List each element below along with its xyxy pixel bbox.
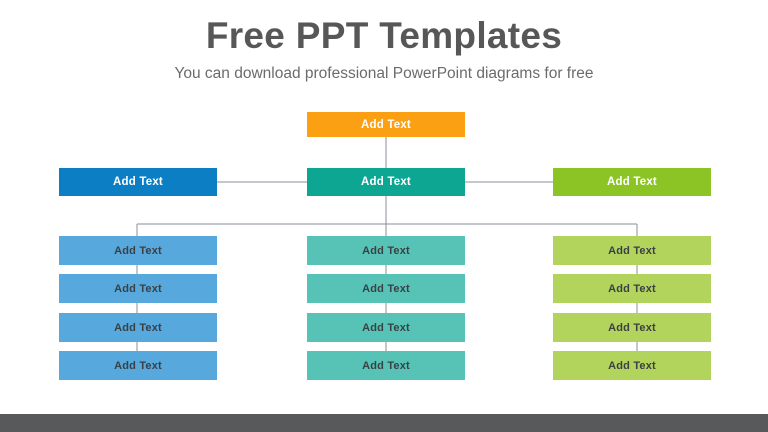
node-branch-left[interactable]: Add Text [59, 168, 217, 196]
node-leaf-left-4[interactable]: Add Text [59, 351, 217, 380]
node-leaf-right-3[interactable]: Add Text [553, 313, 711, 342]
node-leaf-center-3[interactable]: Add Text [307, 313, 465, 342]
footer-bar [0, 414, 768, 432]
node-root[interactable]: Add Text [307, 112, 465, 137]
slide-canvas: Free PPT Templates You can download prof… [0, 0, 768, 432]
node-leaf-right-4[interactable]: Add Text [553, 351, 711, 380]
node-leaf-right-1[interactable]: Add Text [553, 236, 711, 265]
node-branch-center[interactable]: Add Text [307, 168, 465, 196]
node-leaf-right-2[interactable]: Add Text [553, 274, 711, 303]
node-leaf-left-3[interactable]: Add Text [59, 313, 217, 342]
node-leaf-center-4[interactable]: Add Text [307, 351, 465, 380]
node-leaf-center-1[interactable]: Add Text [307, 236, 465, 265]
node-leaf-center-2[interactable]: Add Text [307, 274, 465, 303]
node-leaf-left-2[interactable]: Add Text [59, 274, 217, 303]
node-leaf-left-1[interactable]: Add Text [59, 236, 217, 265]
node-branch-right[interactable]: Add Text [553, 168, 711, 196]
